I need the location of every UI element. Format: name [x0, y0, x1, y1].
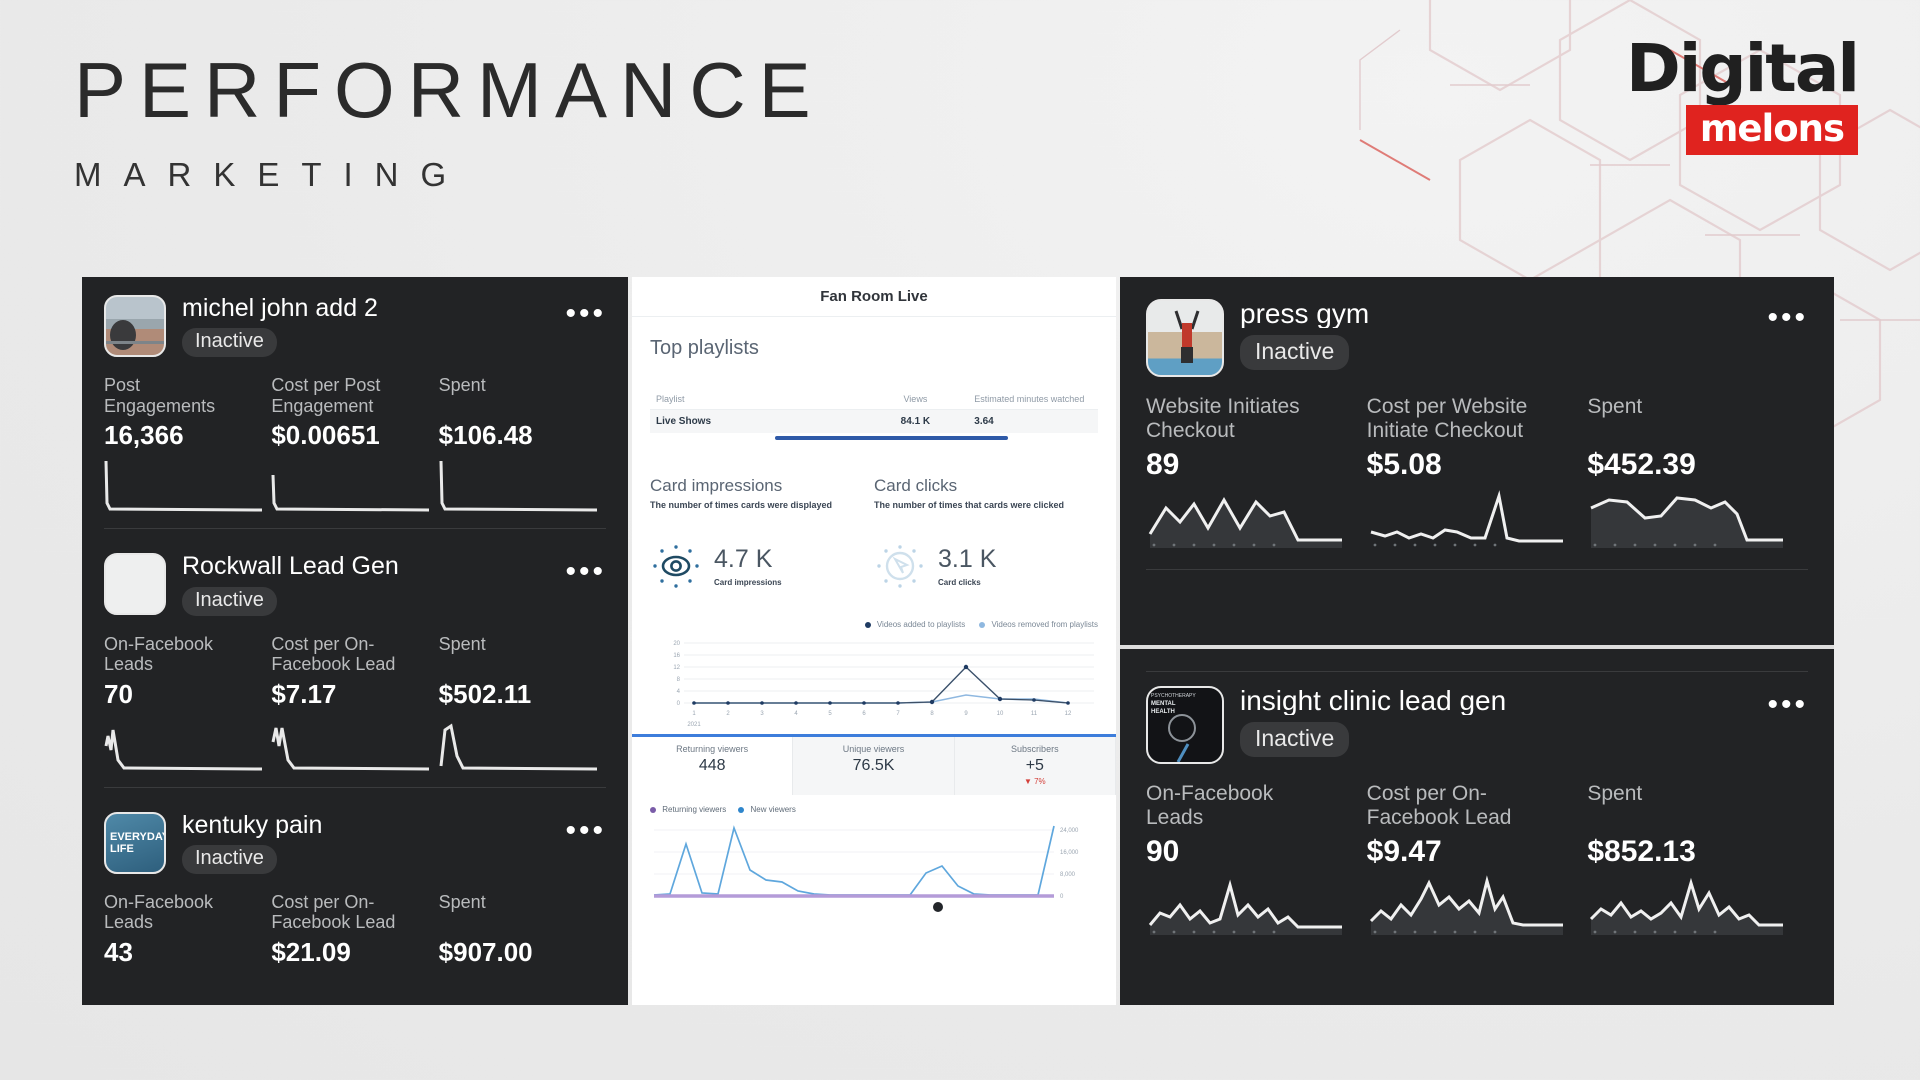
mental-health-poster-icon: PSYCHOTHERAPY MENTAL HEALTH — [1148, 688, 1224, 764]
svg-text:1: 1 — [692, 711, 696, 717]
y-tick-label: 24,000 — [1060, 828, 1079, 834]
metrics-row: Post Engagements 16,366 Cost per Post En… — [104, 375, 606, 520]
svg-text:8: 8 — [677, 677, 681, 683]
playlists-table: Playlist Views Estimated minutes watched… — [650, 394, 1098, 440]
more-options-icon[interactable]: ••• — [1767, 299, 1808, 327]
svg-text:6: 6 — [862, 711, 866, 717]
metric-label: Spent — [1587, 395, 1794, 446]
ad-card[interactable]: PSYCHOTHERAPY MENTAL HEALTH insight clin… — [1120, 649, 1834, 1005]
ad-card-titles: Rockwall Lead Gen Inactive — [182, 553, 565, 615]
tab-label: Returning viewers — [634, 744, 790, 754]
ad-name: michel john add 2 — [182, 295, 565, 321]
cell-minutes: 3.64 — [974, 416, 1092, 427]
right-screenshot-panel: press gym Inactive ••• Website Initiates… — [1120, 277, 1834, 1005]
metric: Cost per On- Facebook Lead $9.47 — [1367, 782, 1588, 942]
ad-card-titles: michel john add 2 Inactive — [182, 295, 565, 357]
svg-text:12: 12 — [1065, 711, 1072, 717]
metric-label: Spent — [439, 634, 592, 677]
ad-card-titles: press gym Inactive — [1240, 299, 1767, 370]
cursor-click-icon — [874, 540, 926, 592]
metric: Website Initiates Checkout 89 — [1146, 395, 1367, 555]
metric-label: Cost per On- Facebook Lead — [271, 892, 424, 935]
svg-text:5: 5 — [828, 711, 832, 717]
metric: On-Facebook Leads 90 — [1146, 782, 1367, 942]
viewers-area-chart: 24,000 16,000 8,000 0 — [650, 818, 1098, 916]
metric: Spent $502.11 — [439, 634, 606, 779]
tab-subscribers[interactable]: Subscribers +5 ▼ 7% — [955, 737, 1116, 795]
column-header-playlist: Playlist — [656, 394, 857, 404]
column-header-views: Views — [857, 394, 975, 404]
sparkline-chart — [1367, 875, 1567, 937]
divider — [104, 528, 606, 529]
metric: Spent $852.13 — [1587, 782, 1808, 942]
svg-text:LIFE: LIFE — [110, 843, 134, 855]
metric: On-Facebook Leads 43 — [104, 892, 271, 968]
metric-label: On-Facebook Leads — [1146, 782, 1353, 833]
tab-value: +5 — [957, 757, 1113, 775]
middle-screenshot-panel: Fan Room Live Top playlists Playlist Vie… — [632, 277, 1116, 1005]
ad-card-titles: insight clinic lead gen Inactive — [1240, 686, 1767, 757]
page-header: PERFORMANCE MARKETING — [74, 48, 824, 194]
more-options-icon[interactable]: ••• — [565, 553, 606, 581]
metric: Spent $907.00 — [439, 892, 606, 968]
ad-card-header: EVERYDAY LIFE kentuky pain Inactive ••• — [104, 812, 606, 874]
divider — [104, 787, 606, 788]
status-badge: Inactive — [182, 845, 277, 874]
metric-label: Website Initiates Checkout — [1146, 395, 1353, 446]
svg-text:MENTAL: MENTAL — [1151, 701, 1176, 707]
status-badge: Inactive — [1240, 722, 1349, 757]
sparkline-chart — [1367, 488, 1567, 550]
table-row[interactable]: Live Shows 84.1 K 3.64 — [650, 410, 1098, 433]
legend-item: Videos added to playlists — [865, 620, 966, 629]
metric-value: 90 — [1146, 835, 1353, 869]
metric-label: Cost per On- Facebook Lead — [271, 634, 424, 677]
metric-value: $907.00 — [439, 937, 592, 968]
eye-icon — [650, 540, 702, 592]
sparkline-chart — [439, 716, 599, 774]
ad-card[interactable]: EVERYDAY LIFE kentuky pain Inactive ••• … — [82, 794, 628, 974]
legend-label: New viewers — [751, 805, 796, 814]
sparkline-chart — [104, 457, 264, 515]
chart-legend: Videos added to playlists Videos removed… — [650, 620, 1098, 629]
row-progress-bar — [775, 436, 1008, 440]
metric-card-value: 3.1 K — [938, 545, 996, 574]
ad-thumbnail: EVERYDAY LIFE — [104, 812, 166, 874]
svg-text:EVERYDAY: EVERYDAY — [110, 831, 166, 843]
ad-card-titles: kentuky pain Inactive — [182, 812, 565, 874]
metric: Spent $452.39 — [1587, 395, 1808, 555]
sparkline-chart — [271, 716, 431, 774]
metric-value: $452.39 — [1587, 448, 1794, 482]
sparkline-chart — [104, 716, 264, 774]
y-tick-label: 8,000 — [1060, 872, 1076, 878]
sparkline-chart — [1146, 875, 1346, 937]
chart-legend: Returning viewers New viewers — [650, 805, 1098, 814]
tab-value: 76.5K — [795, 757, 951, 775]
status-badge: Inactive — [182, 587, 277, 616]
svg-text:0: 0 — [677, 701, 681, 707]
metrics-row: On-Facebook Leads 43 Cost per On- Facebo… — [104, 892, 606, 968]
metric-value: 89 — [1146, 448, 1353, 482]
metric-value: $9.47 — [1367, 835, 1574, 869]
metric-label: Cost per On- Facebook Lead — [1367, 782, 1574, 833]
metric-value: 16,366 — [104, 420, 257, 451]
metric-card-value: 4.7 K — [714, 545, 782, 574]
tab-label: Subscribers — [957, 744, 1113, 754]
metric-label: Spent — [439, 375, 592, 418]
legend-label: Returning viewers — [662, 805, 726, 814]
divider — [1146, 569, 1808, 570]
viewer-metric-tabs: Returning viewers 448 Unique viewers 76.… — [632, 734, 1116, 795]
legend-item: Returning viewers — [650, 805, 726, 814]
metric-card-caption: Card clicks — [938, 578, 996, 587]
divider — [1146, 671, 1808, 672]
x-axis-label: 2021 — [687, 722, 701, 728]
svg-text:3: 3 — [760, 711, 764, 717]
ad-name: Rockwall Lead Gen — [182, 553, 565, 579]
ad-thumbnail — [104, 295, 166, 357]
more-options-icon[interactable]: ••• — [1767, 686, 1808, 714]
metric-card-body: 4.7 K Card impressions — [650, 540, 874, 592]
metric: Cost per Post Engagement $0.00651 — [271, 375, 438, 520]
tab-delta: ▼ 7% — [957, 777, 1113, 786]
sparkline-chart — [439, 457, 599, 515]
table-header-row: Playlist Views Estimated minutes watched — [650, 394, 1098, 410]
metric-label: Cost per Post Engagement — [271, 375, 424, 418]
ad-card-header: press gym Inactive ••• — [1146, 299, 1808, 377]
metric-label: Post Engagements — [104, 375, 257, 418]
metric: Post Engagements 16,366 — [104, 375, 271, 520]
svg-text:4: 4 — [677, 689, 681, 695]
cell-views: 84.1 K — [857, 416, 975, 427]
page-title: PERFORMANCE — [74, 48, 824, 132]
everyday-life-poster-icon: EVERYDAY LIFE — [106, 814, 166, 874]
metric-card: Card impressions The number of times car… — [650, 476, 874, 592]
left-screenshot-panel: michel john add 2 Inactive ••• Post Enga… — [82, 277, 628, 1005]
metric: Cost per On- Facebook Lead $7.17 — [271, 634, 438, 779]
ad-name: kentuky pain — [182, 812, 565, 838]
legend-label: Videos removed from playlists — [991, 620, 1098, 629]
legend-label: Videos added to playlists — [877, 620, 965, 629]
svg-text:10: 10 — [997, 711, 1004, 717]
metric-label: Cost per Website Initiate Checkout — [1367, 395, 1574, 446]
tab-returning-viewers[interactable]: Returning viewers 448 — [632, 737, 793, 795]
metric-value: $0.00651 — [271, 420, 424, 451]
svg-text:7: 7 — [896, 711, 900, 717]
metric-label: Spent — [1587, 782, 1794, 833]
window-title-bar: Fan Room Live — [632, 277, 1116, 317]
svg-text:20: 20 — [673, 641, 680, 647]
section-title: Top playlists — [650, 337, 1098, 360]
ad-card-header: michel john add 2 Inactive ••• — [104, 295, 606, 357]
window-title: Fan Room Live — [820, 288, 928, 305]
ad-card-header: PSYCHOTHERAPY MENTAL HEALTH insight clin… — [1146, 686, 1808, 764]
ad-thumbnail — [104, 553, 166, 615]
svg-text:16: 16 — [673, 653, 680, 659]
tab-label: Unique viewers — [795, 744, 951, 754]
ad-name: press gym — [1240, 299, 1767, 328]
metrics-row: On-Facebook Leads 70 Cost per On- Facebo… — [104, 634, 606, 779]
svg-text:11: 11 — [1031, 711, 1038, 717]
metrics-row: On-Facebook Leads 90 Cost per On- Facebo… — [1146, 782, 1808, 942]
athlete-icon — [1148, 301, 1224, 377]
metric: On-Facebook Leads 70 — [104, 634, 271, 779]
svg-text:2: 2 — [726, 711, 730, 717]
metric-value: $502.11 — [439, 679, 592, 710]
ad-thumbnail — [1146, 299, 1224, 377]
metric-value: $852.13 — [1587, 835, 1794, 869]
metric-label: On-Facebook Leads — [104, 634, 257, 677]
chart-marker-icon — [933, 902, 943, 912]
engagement-cards: Card impressions The number of times car… — [650, 476, 1098, 592]
sparkline-chart — [271, 457, 431, 515]
metric-card-subtitle: The number of times that cards were clic… — [874, 500, 1098, 510]
status-badge: Inactive — [1240, 335, 1349, 370]
ad-card-header: Rockwall Lead Gen Inactive ••• — [104, 553, 606, 615]
ad-name: insight clinic lead gen — [1240, 686, 1767, 715]
metric-card-caption: Card impressions — [714, 578, 782, 587]
y-tick-label: 0 — [1060, 894, 1064, 900]
metric-value: $5.08 — [1367, 448, 1574, 482]
playlist-line-chart: 201612 840 123 456 789 101112 2021 — [650, 633, 1098, 729]
column-header-minutes: Estimated minutes watched — [974, 394, 1092, 404]
sparkline-chart — [1146, 488, 1346, 550]
ad-thumbnail: PSYCHOTHERAPY MENTAL HEALTH — [1146, 686, 1224, 764]
metric-card: Card clicks The number of times that car… — [874, 476, 1098, 592]
svg-text:HEALTH: HEALTH — [1151, 709, 1175, 715]
legend-item: Videos removed from playlists — [979, 620, 1098, 629]
legend-swatch — [650, 807, 656, 813]
svg-text:8: 8 — [930, 711, 934, 717]
metric-label: Spent — [439, 892, 592, 935]
svg-text:9: 9 — [964, 711, 968, 717]
legend-swatch — [865, 622, 871, 628]
tab-unique-viewers[interactable]: Unique viewers 76.5K — [793, 737, 954, 795]
metric-value: 70 — [104, 679, 257, 710]
metrics-row: Website Initiates Checkout 89 Cost per W… — [1146, 395, 1808, 555]
more-options-icon[interactable]: ••• — [565, 295, 606, 323]
metric-value: $7.17 — [271, 679, 424, 710]
sparkline-chart — [1587, 875, 1787, 937]
metric: Spent $106.48 — [439, 375, 606, 520]
metric-card-body: 3.1 K Card clicks — [874, 540, 1098, 592]
svg-text:12: 12 — [673, 665, 680, 671]
page-subtitle: MARKETING — [74, 156, 824, 194]
cell-playlist: Live Shows — [656, 416, 857, 427]
ad-card[interactable]: press gym Inactive ••• Website Initiates… — [1120, 277, 1834, 645]
metric-card-subtitle: The number of times cards were displayed — [650, 500, 874, 510]
y-tick-label: 16,000 — [1060, 850, 1079, 856]
svg-text:PSYCHOTHERAPY: PSYCHOTHERAPY — [1151, 693, 1196, 699]
metric-value: 43 — [104, 937, 257, 968]
ad-card[interactable]: Rockwall Lead Gen Inactive ••• On-Facebo… — [82, 535, 628, 793]
legend-item: New viewers — [738, 805, 796, 814]
metric: Cost per On- Facebook Lead $21.09 — [271, 892, 438, 968]
metric-label: On-Facebook Leads — [104, 892, 257, 935]
sparkline-chart — [1587, 488, 1787, 550]
metric-card-title: Card clicks — [874, 476, 1098, 496]
brand-logo-badge: melons — [1686, 105, 1858, 155]
tab-value: 448 — [634, 757, 790, 775]
svg-text:4: 4 — [794, 711, 798, 717]
more-options-icon[interactable]: ••• — [565, 812, 606, 840]
metric: Cost per Website Initiate Checkout $5.08 — [1367, 395, 1588, 555]
metric-value: $21.09 — [271, 937, 424, 968]
status-badge: Inactive — [182, 328, 277, 357]
metric-value: $106.48 — [439, 420, 592, 451]
brand-logo-word: Digital — [1626, 38, 1858, 101]
legend-swatch — [979, 622, 985, 628]
brand-logo: Digital melons — [1626, 38, 1858, 155]
ad-card[interactable]: michel john add 2 Inactive ••• Post Enga… — [82, 277, 628, 535]
legend-swatch — [738, 807, 744, 813]
metric-card-title: Card impressions — [650, 476, 874, 496]
motorcycle-icon — [106, 297, 166, 357]
